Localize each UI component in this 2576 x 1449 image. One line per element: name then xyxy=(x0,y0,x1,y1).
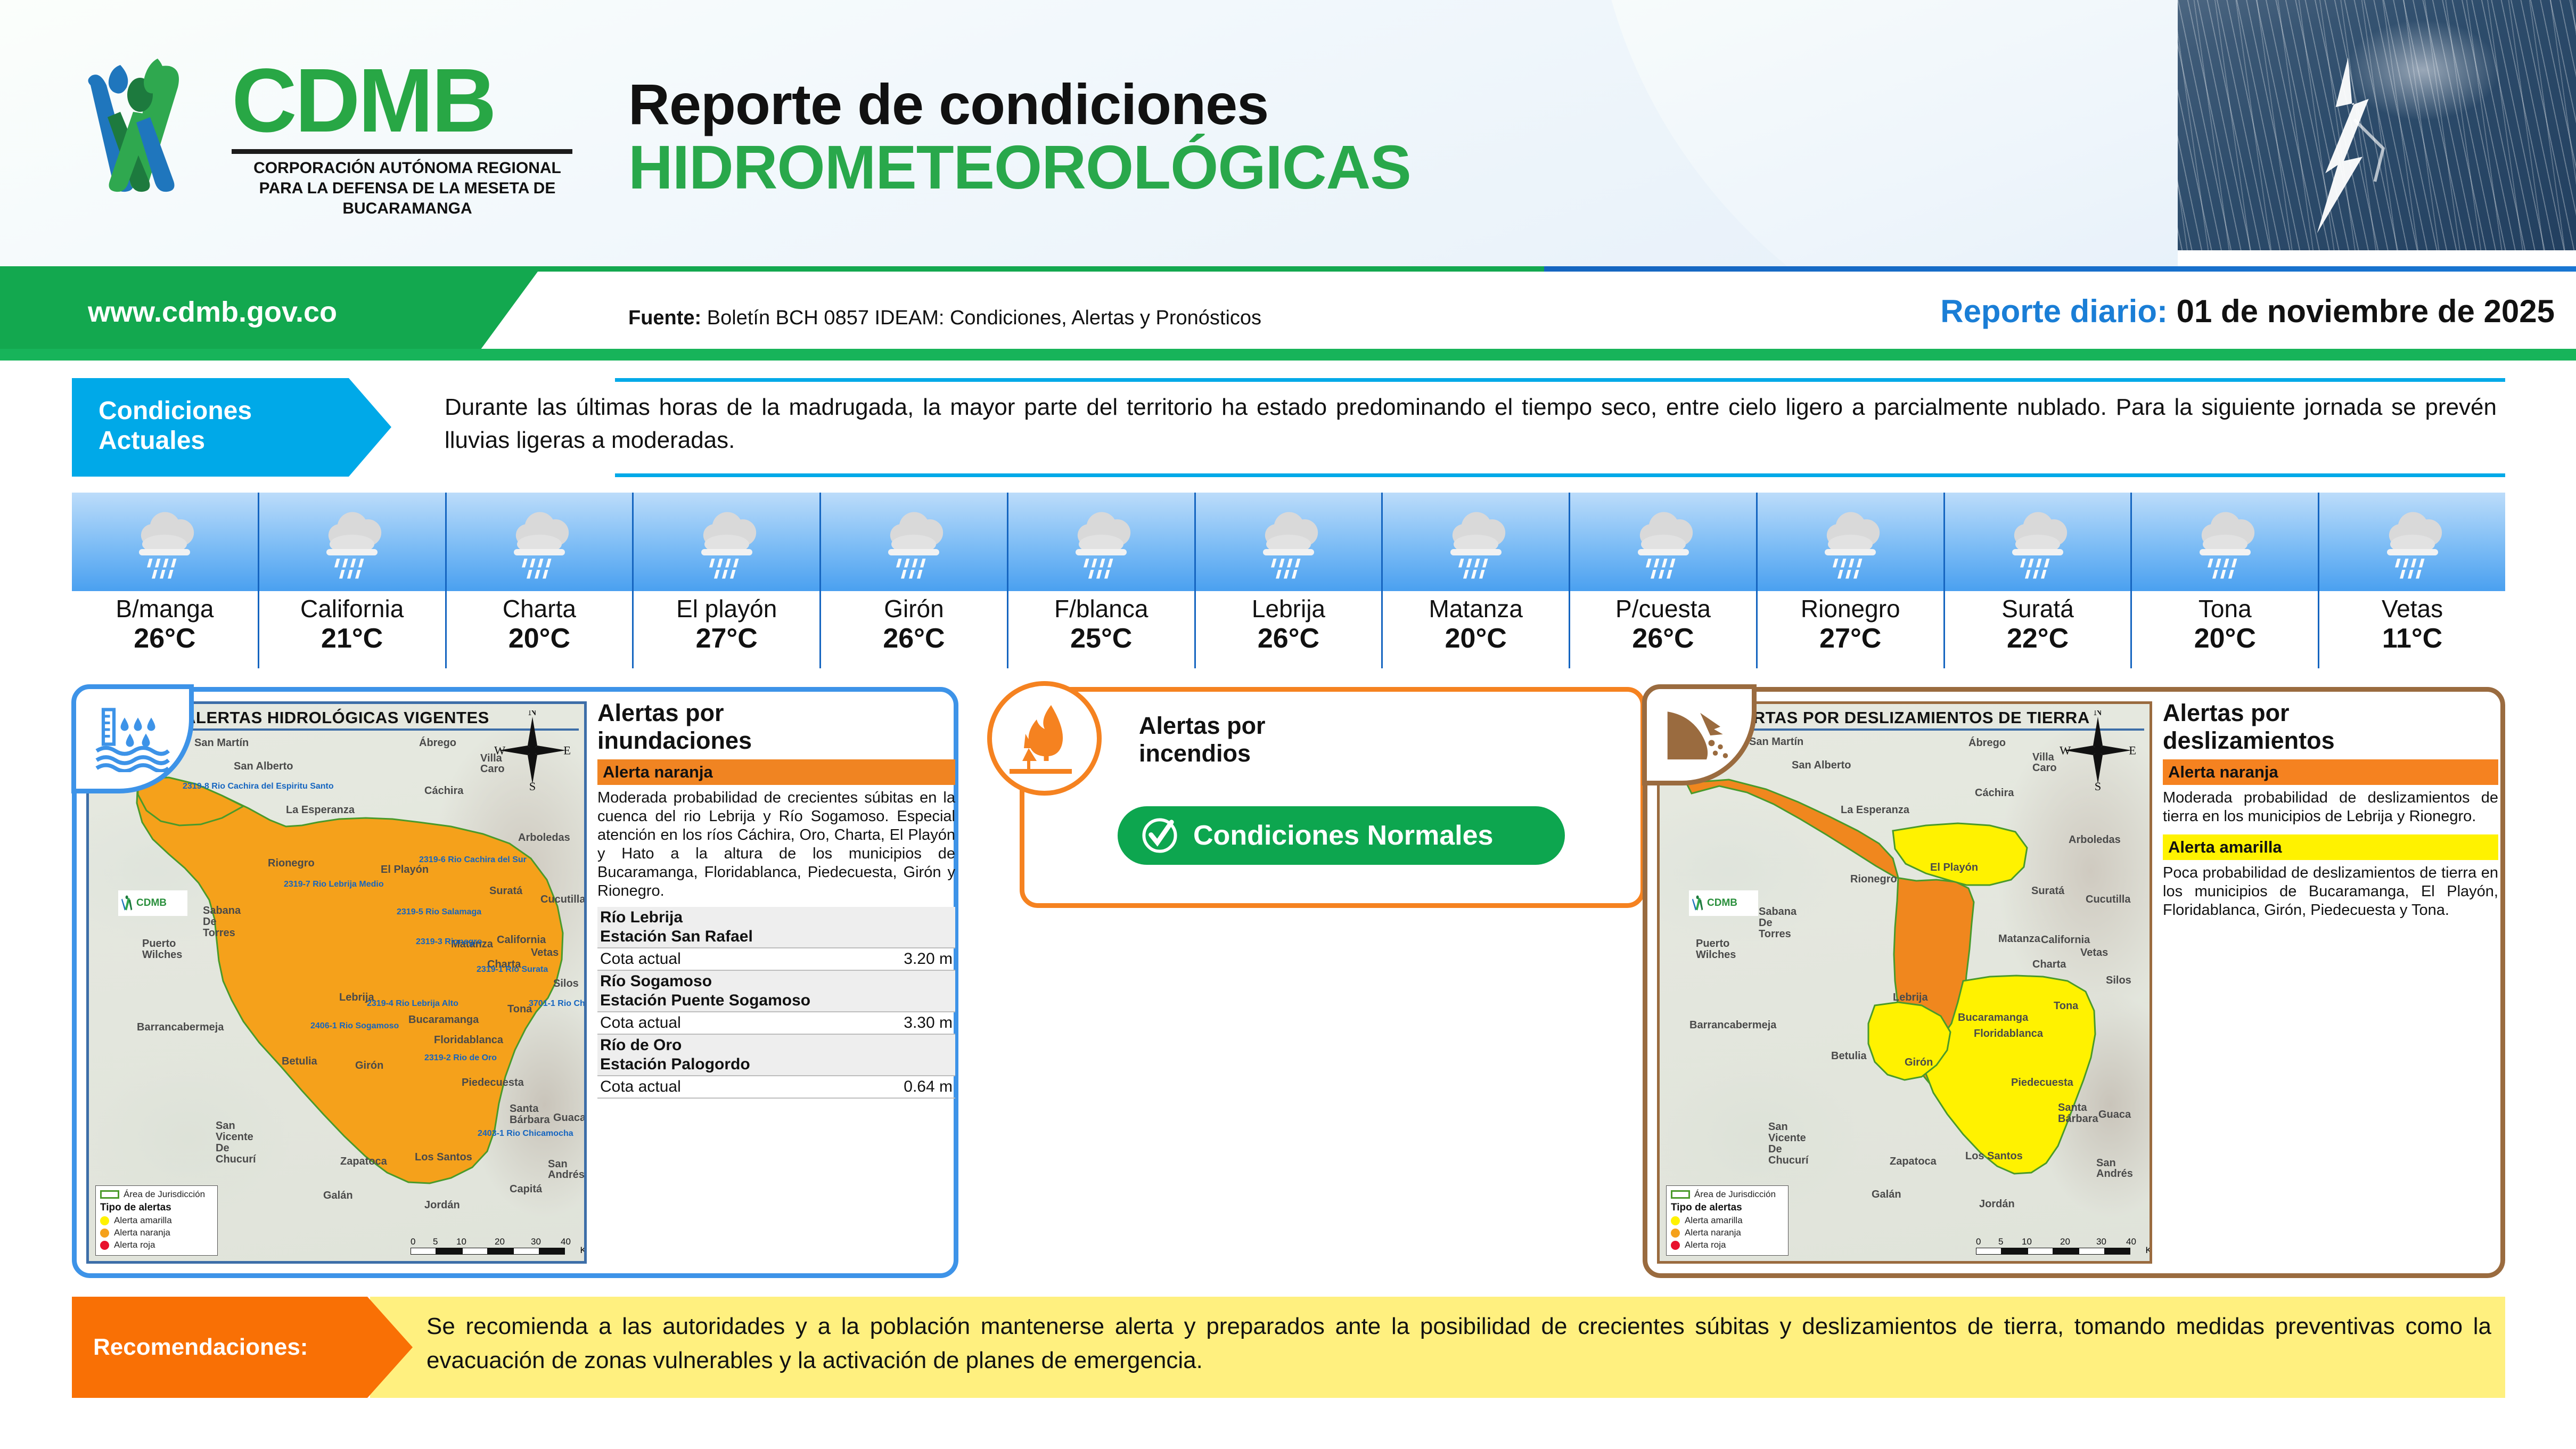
map-label: Villa Caro xyxy=(2032,752,2061,773)
basin-label: 2319-5 Rio Salamaga xyxy=(397,907,445,917)
map-cdmb-watermark: CDMB xyxy=(118,890,187,916)
map-label: San Martín xyxy=(1749,736,1803,748)
flood-info-column: Alertas por inundaciones Alerta naranja … xyxy=(597,699,955,1099)
conditions-tag-line-2: Actuales xyxy=(99,426,391,456)
rain-cloud-icon xyxy=(1810,504,1890,584)
map-label: Puerto Wilches xyxy=(1696,938,1733,961)
svg-text:E: E xyxy=(563,744,571,757)
report-date-label: Reporte diario: xyxy=(1940,293,2168,329)
fire-status-badge: Condiciones Normales xyxy=(1118,806,1565,865)
legend-label: Alerta amarilla xyxy=(114,1215,172,1226)
landslide-alert-card: ALERTAS POR DESLIZAMIENTOS DE TIERRA San… xyxy=(1643,687,2505,1278)
scale-tick: 5 xyxy=(1998,1237,2003,1247)
weather-icon-sky xyxy=(2132,493,2318,591)
legend-row: Alerta amarilla xyxy=(100,1215,213,1226)
jurisdiction-swatch xyxy=(1671,1190,1690,1199)
map-label: Cáchira xyxy=(424,785,463,797)
temperature-cell: P/cuesta26°C xyxy=(1570,493,1758,668)
temperature-cell: Suratá22°C xyxy=(1945,493,2132,668)
legend-label: Alerta naranja xyxy=(114,1227,170,1238)
river-name: Río de Oro xyxy=(600,1036,953,1055)
scale-tick: 0 xyxy=(411,1237,415,1247)
station-name: Estación Palogordo xyxy=(600,1055,953,1074)
flood-heading-line-2: inundaciones xyxy=(597,727,955,755)
river-station-name: Río SogamosoEstación Puente Sogamoso xyxy=(597,970,955,1012)
rain-cloud-icon xyxy=(1436,504,1516,584)
city-temperature: 20°C xyxy=(1383,623,1569,654)
temperature-cell: Charta20°C xyxy=(447,493,634,668)
map-label: Puerto Wilches xyxy=(142,938,179,961)
landslide-alert-text-yellow: Poca probabilidad de deslizamientos de t… xyxy=(2163,864,2498,920)
landslide-map-legend: Área de Jurisdicción Tipo de alertas Ale… xyxy=(1666,1185,1789,1256)
weather-icon-sky xyxy=(1945,493,2131,591)
map-label: Floridablanca xyxy=(1974,1028,2043,1040)
map-label: Jordán xyxy=(424,1199,460,1211)
map-label: Vetas xyxy=(2080,947,2108,959)
city-temperature: 27°C xyxy=(1758,623,1943,654)
city-temperature: 26°C xyxy=(1570,623,1756,654)
cdmb-mini-logo-icon xyxy=(120,894,134,912)
city-temperature: 26°C xyxy=(1196,623,1382,654)
alert-panels-row: ALERTAS HIDROLÓGICAS VIGENTES San Martín… xyxy=(72,687,2505,1278)
basin-label: 2319-1 Rio Surata xyxy=(477,965,522,975)
cota-label: Cota actual xyxy=(597,1076,817,1098)
map-label: Zapatoca xyxy=(340,1156,387,1168)
weather-icon-sky xyxy=(634,493,819,591)
legend-row: Alerta naranja xyxy=(100,1227,213,1238)
landslide-alert-text-orange: Moderada probabilidad de deslizamientos … xyxy=(2163,789,2498,826)
city-name: El playón xyxy=(634,594,819,623)
city-temperature: 25°C xyxy=(1008,623,1194,654)
map-label: Piedecuesta xyxy=(2011,1077,2073,1089)
flood-alert-description: Moderada probabilidad de crecientes súbi… xyxy=(597,789,955,900)
city-name: Rionegro xyxy=(1758,594,1943,623)
map-label: Charta xyxy=(2032,959,2066,971)
svg-text:E: E xyxy=(2129,744,2136,757)
fire-heading-line-1: Alertas por xyxy=(1139,712,1266,740)
city-name: P/cuesta xyxy=(1570,594,1756,623)
river-station-value-row: Cota actual3.30 m xyxy=(597,1012,955,1034)
rain-cloud-icon xyxy=(312,504,392,584)
city-name: F/blanca xyxy=(1008,594,1194,623)
legend-title: Tipo de alertas xyxy=(100,1202,213,1214)
map-label: Los Santos xyxy=(1965,1150,2023,1163)
map-label: Silos xyxy=(553,978,579,990)
map-label: Cucutilla xyxy=(2086,894,2130,906)
source-label: Fuente: xyxy=(628,307,701,329)
landslide-info-column: Alertas por deslizamientos Alerta naranj… xyxy=(2163,699,2498,920)
cdmb-logo-mark-icon xyxy=(69,48,229,208)
legend-swatch-orange xyxy=(100,1229,109,1238)
recommendations-section: Se recomienda a las autoridades y a la p… xyxy=(72,1297,2505,1398)
legend-label: Alerta roja xyxy=(1685,1240,1726,1250)
map-label: Silos xyxy=(2106,975,2131,987)
river-station-header: Río LebrijaEstación San Rafael xyxy=(597,907,955,948)
scale-tick: 40 xyxy=(561,1237,571,1247)
temperature-cell: B/manga26°C xyxy=(72,493,259,668)
river-station-value-row: Cota actual0.64 m xyxy=(597,1076,955,1098)
map-label: Lebrija xyxy=(1893,992,1928,1004)
lightning-bolt-icon xyxy=(2293,58,2399,233)
map-watermark-text: CDMB xyxy=(136,897,167,909)
basin-label: 2406-1 Rio Sogamoso xyxy=(310,1021,356,1031)
cdmb-logo: CDMB CORPORACIÓN AUTÓNOMA REGIONAL PARA … xyxy=(69,48,612,218)
cota-value: 0.64 m xyxy=(817,1076,955,1098)
scale-tick: 5 xyxy=(433,1237,438,1247)
map-label: Tona xyxy=(2054,1000,2078,1012)
weather-icon-sky xyxy=(259,493,445,591)
map-label: Santa Bárbara xyxy=(2058,1102,2088,1125)
temperature-cell: Lebrija26°C xyxy=(1196,493,1383,668)
city-name: Vetas xyxy=(2319,594,2505,623)
legend-title: Tipo de alertas xyxy=(1671,1202,1784,1214)
temperature-cell: F/blanca25°C xyxy=(1008,493,1196,668)
legend-row: Alerta roja xyxy=(100,1240,213,1250)
scale-tick: 30 xyxy=(531,1237,541,1247)
map-label: El Playón xyxy=(1930,862,1978,874)
rain-cloud-icon xyxy=(125,504,204,584)
map-label: California xyxy=(2041,934,2090,946)
fire-alert-card: Alertas por incendios Condiciones Normal… xyxy=(1020,687,1645,908)
city-name: B/manga xyxy=(72,594,258,623)
river-stations-table: Río LebrijaEstación San RafaelCota actua… xyxy=(597,907,955,1099)
cdmb-mini-logo-icon xyxy=(1691,894,1705,912)
scale-tick: 40 xyxy=(2126,1237,2136,1247)
info-bar-bottom-rule xyxy=(0,349,2576,361)
map-label: Barrancabermeja xyxy=(137,1021,224,1034)
basin-label: 2403-1 Rio Chicamocha xyxy=(478,1129,526,1139)
cota-label: Cota actual xyxy=(597,948,817,970)
legend-label: Alerta roja xyxy=(114,1240,155,1250)
legend-swatch-yellow xyxy=(100,1216,109,1225)
temperature-cell: Rionegro27°C xyxy=(1758,493,1945,668)
flood-map[interactable]: ALERTAS HIDROLÓGICAS VIGENTES San Martín… xyxy=(86,701,587,1264)
map-label: Betulia xyxy=(282,1055,317,1068)
current-conditions-section: Condiciones Actuales Durante las últimas… xyxy=(72,378,2505,477)
svg-text:S: S xyxy=(529,780,536,790)
rain-cloud-icon xyxy=(2373,504,2452,584)
temperature-cell: Tona20°C xyxy=(2132,493,2319,668)
map-label: Floridablanca xyxy=(434,1034,503,1046)
scale-tick: 10 xyxy=(2022,1237,2032,1247)
map-label: San Alberto xyxy=(234,760,293,773)
scale-tick: 10 xyxy=(456,1237,466,1247)
map-label: Galán xyxy=(323,1190,353,1202)
source-text: Fuente: Boletín BCH 0857 IDEAM: Condicio… xyxy=(628,307,1261,330)
river-station-name: Río LebrijaEstación San Rafael xyxy=(597,907,955,948)
landslide-alert-level-yellow: Alerta amarilla xyxy=(2163,834,2498,860)
landslide-panel-heading: Alertas por deslizamientos xyxy=(2163,699,2498,755)
jurisdiction-swatch xyxy=(100,1190,119,1199)
fire-forest-icon xyxy=(1005,699,1085,779)
landslide-heading-line-1: Alertas por xyxy=(2163,699,2498,727)
map-label: San Vicente De Chucurí xyxy=(216,1120,261,1165)
landslide-map[interactable]: ALERTAS POR DESLIZAMIENTOS DE TIERRA San… xyxy=(1657,701,2152,1264)
temperature-strip: B/manga26°C California21°C Charta20°C El… xyxy=(72,493,2505,668)
fire-status-label: Condiciones Normales xyxy=(1193,820,1493,852)
map-label: California xyxy=(497,934,546,946)
map-label: La Esperanza xyxy=(286,804,355,816)
scale-tick: 0 xyxy=(1976,1237,1981,1247)
city-name: Charta xyxy=(447,594,633,623)
recommendations-tag: Recomendaciones: xyxy=(72,1297,413,1398)
cota-label: Cota actual xyxy=(597,1012,817,1034)
weather-icon-sky xyxy=(2319,493,2505,591)
map-cdmb-watermark: CDMB xyxy=(1689,890,1758,916)
map-label: Santa Bárbara xyxy=(510,1103,542,1126)
scale-unit: Km xyxy=(580,1245,587,1256)
legend-swatch-yellow xyxy=(1671,1216,1680,1225)
city-name: Tona xyxy=(2132,594,2318,623)
fire-heading-line-2: incendios xyxy=(1139,740,1266,767)
temperature-cell: Matanza20°C xyxy=(1383,493,1570,668)
svg-text:N: N xyxy=(2094,710,2102,718)
flood-heading-line-1: Alertas por xyxy=(597,699,955,727)
legend-jurisdiction-row: Área de Jurisdicción xyxy=(100,1189,213,1200)
conditions-tag-line-1: Condiciones xyxy=(99,396,391,426)
city-name: Girón xyxy=(821,594,1007,623)
city-name: Lebrija xyxy=(1196,594,1382,623)
website-link[interactable]: www.cdmb.gov.co xyxy=(88,296,337,329)
check-circle-icon xyxy=(1140,816,1179,855)
weather-icon-sky xyxy=(1008,493,1194,591)
svg-text:S: S xyxy=(2095,780,2102,790)
rain-cloud-icon xyxy=(1998,504,2078,584)
fire-panel-heading: Alertas por incendios xyxy=(1139,712,1266,767)
city-name: Suratá xyxy=(1945,594,2131,623)
map-label: Guaca xyxy=(2098,1109,2131,1121)
title-line-1: Reporte de condiciones xyxy=(628,75,1411,134)
basin-label: 2319-2 Rio de Oro xyxy=(424,1053,468,1063)
svg-text:W: W xyxy=(494,744,506,757)
map-label: Los Santos xyxy=(415,1151,472,1164)
legend-label: Alerta amarilla xyxy=(1685,1215,1743,1226)
city-temperature: 20°C xyxy=(2132,623,2318,654)
rain-cloud-icon xyxy=(2185,504,2265,584)
city-temperature: 20°C xyxy=(447,623,633,654)
landslide-heading-line-2: deslizamientos xyxy=(2163,727,2498,755)
rain-cloud-icon xyxy=(1061,504,1141,584)
rain-cloud-icon xyxy=(1249,504,1328,584)
weather-icon-sky xyxy=(1383,493,1569,591)
compass-rose-icon: N S E W xyxy=(2058,710,2138,790)
river-station-name: Río de OroEstación Palogordo xyxy=(597,1034,955,1076)
temperature-cell: El playón27°C xyxy=(634,493,821,668)
basin-label: 2319-3 Rionegro xyxy=(416,937,456,947)
map-label: Betulia xyxy=(1831,1050,1867,1062)
map-label: Capitá xyxy=(510,1183,542,1196)
map-label: Sabana De Torres xyxy=(1759,906,1801,940)
flood-alert-level-badge: Alerta naranja xyxy=(597,759,955,785)
map-label: Guaca xyxy=(553,1112,586,1124)
legend-label: Alerta naranja xyxy=(1685,1227,1741,1238)
cota-value: 3.30 m xyxy=(817,1012,955,1034)
flood-map-legend: Área de Jurisdicción Tipo de alertas Ale… xyxy=(95,1185,218,1256)
map-watermark-text: CDMB xyxy=(1707,897,1737,909)
map-label: Vetas xyxy=(531,947,559,959)
logo-subtitle: CORPORACIÓN AUTÓNOMA REGIONAL PARA LA DE… xyxy=(232,158,583,219)
map-label: Suratá xyxy=(489,885,522,897)
map-label: Cucutilla xyxy=(540,894,585,906)
map-label: Bucaramanga xyxy=(408,1014,479,1026)
map-label: Girón xyxy=(1905,1057,1933,1069)
rain-cloud-icon xyxy=(687,504,767,584)
city-temperature: 27°C xyxy=(634,623,819,654)
map-label: Rionegro xyxy=(1850,873,1897,886)
map-label: Barrancabermeja xyxy=(1689,1019,1776,1032)
source-value: Boletín BCH 0857 IDEAM: Condiciones, Ale… xyxy=(707,307,1261,329)
weather-icon-sky xyxy=(1196,493,1382,591)
landslide-map-scalebar: 0 5 10 20 30 40 Km xyxy=(1976,1237,2141,1255)
map-label: Sabana De Torres xyxy=(203,905,245,939)
temperature-cell: California21°C xyxy=(259,493,447,668)
city-name: California xyxy=(259,594,445,623)
landslide-alert-level-orange: Alerta naranja xyxy=(2163,759,2498,785)
city-temperature: 22°C xyxy=(1945,623,2131,654)
legend-row: Alerta roja xyxy=(1671,1240,1784,1250)
cota-value: 3.20 m xyxy=(817,948,955,970)
river-name: Río Sogamoso xyxy=(600,972,953,991)
river-station-header: Río SogamosoEstación Puente Sogamoso xyxy=(597,970,955,1012)
city-temperature: 21°C xyxy=(259,623,445,654)
map-label: La Esperanza xyxy=(1841,804,1909,816)
legend-jurisdiction-label: Área de Jurisdicción xyxy=(124,1189,205,1200)
map-label: Piedecuesta xyxy=(462,1077,524,1089)
map-label: San Andrés xyxy=(548,1159,572,1180)
fire-icon-badge xyxy=(987,681,1102,796)
city-name: Matanza xyxy=(1383,594,1569,623)
map-label: Galán xyxy=(1872,1189,1901,1201)
river-station-value-row: Cota actual3.20 m xyxy=(597,948,955,970)
flood-panel-heading: Alertas por inundaciones xyxy=(597,699,955,755)
map-label: Jordán xyxy=(1979,1198,2015,1210)
compass-rose-icon: N S E W xyxy=(493,710,572,790)
map-label: Arboledas xyxy=(518,832,570,844)
legend-jurisdiction-row: Área de Jurisdicción xyxy=(1671,1189,1784,1200)
station-name: Estación San Rafael xyxy=(600,927,953,946)
basin-label: 2319-4 Rio Lebrija Alto xyxy=(367,999,416,1009)
weather-icon-sky xyxy=(821,493,1007,591)
map-label: San Vicente De Chucurí xyxy=(1768,1121,1814,1166)
scale-tick: 20 xyxy=(495,1237,505,1247)
station-name: Estación Puente Sogamoso xyxy=(600,991,953,1010)
current-conditions-tag: Condiciones Actuales xyxy=(72,378,391,477)
map-label: Matanza xyxy=(1998,933,2040,945)
basin-label: 2319-7 Rio Lebrija Medio xyxy=(284,880,326,889)
map-label: San Alberto xyxy=(1792,759,1851,772)
map-label: Ábrego xyxy=(1968,737,2006,749)
scale-tick: 30 xyxy=(2096,1237,2106,1247)
legend-swatch-red xyxy=(1671,1241,1680,1250)
map-label: Zapatoca xyxy=(1890,1156,1937,1168)
river-name: Río Lebrija xyxy=(600,908,953,927)
landslide-icon xyxy=(1665,706,1734,764)
water-level-gauge-icon xyxy=(93,706,173,772)
scale-unit: Km xyxy=(2146,1245,2153,1256)
city-temperature: 11°C xyxy=(2319,623,2505,654)
weather-icon-sky xyxy=(1758,493,1943,591)
current-conditions-text: Durante las últimas horas de la madrugad… xyxy=(397,378,2505,477)
title-line-2: HIDROMETEOROLÓGICAS xyxy=(628,134,1411,200)
temperature-cell: Vetas11°C xyxy=(2319,493,2505,668)
rain-cloud-icon xyxy=(874,504,954,584)
city-temperature: 26°C xyxy=(72,623,258,654)
map-label: San Martín xyxy=(194,737,249,749)
legend-swatch-red xyxy=(100,1241,109,1250)
map-label: Rionegro xyxy=(268,857,315,870)
map-label: Girón xyxy=(355,1060,383,1072)
rain-cloud-icon xyxy=(1623,504,1703,584)
flood-alert-card: ALERTAS HIDROLÓGICAS VIGENTES San Martín… xyxy=(72,687,958,1278)
weather-icon-sky xyxy=(72,493,258,591)
report-date-block: Reporte diario: 01 de noviembre de 2025 xyxy=(1940,293,2555,330)
city-temperature: 26°C xyxy=(821,623,1007,654)
page-title: Reporte de condiciones HIDROMETEOROLÓGIC… xyxy=(628,75,1411,200)
legend-row: Alerta naranja xyxy=(1671,1227,1784,1238)
map-label: Ábrego xyxy=(419,737,456,749)
flood-map-scalebar: 0 5 10 20 30 40 Km xyxy=(411,1237,576,1255)
temperature-cell: Girón26°C xyxy=(821,493,1008,668)
report-header: CDMB CORPORACIÓN AUTÓNOMA REGIONAL PARA … xyxy=(0,0,2576,266)
river-station-header: Río de OroEstación Palogordo xyxy=(597,1034,955,1076)
legend-row: Alerta amarilla xyxy=(1671,1215,1784,1226)
recommendations-text: Se recomienda a las autoridades y a la p… xyxy=(413,1297,2505,1398)
map-label: Suratá xyxy=(2031,885,2064,897)
map-label: Arboledas xyxy=(2069,834,2121,846)
legend-jurisdiction-label: Área de Jurisdicción xyxy=(1694,1189,1776,1200)
basin-label: 2319-8 Rio Cachira del Espiritu Santo xyxy=(183,782,238,791)
svg-text:W: W xyxy=(2060,744,2071,757)
scale-tick: 20 xyxy=(2060,1237,2070,1247)
basin-label: 3701-1 Rio Chitaga xyxy=(529,999,572,1009)
report-date-value: 01 de noviembre de 2025 xyxy=(2177,293,2555,329)
logo-acronym: CDMB xyxy=(232,55,583,146)
weather-icon-sky xyxy=(447,493,633,591)
map-label: Cáchira xyxy=(1975,787,2014,799)
map-label: El Playón xyxy=(381,864,429,876)
legend-swatch-orange xyxy=(1671,1229,1680,1238)
weather-icon-sky xyxy=(1570,493,1756,591)
map-label: Bucaramanga xyxy=(1958,1012,2028,1024)
svg-text:N: N xyxy=(528,710,537,718)
rain-cloud-icon xyxy=(499,504,579,584)
map-label: San Andrés xyxy=(2096,1158,2121,1179)
basin-label: 2319-6 Rio Cachira del Sur xyxy=(419,855,469,865)
